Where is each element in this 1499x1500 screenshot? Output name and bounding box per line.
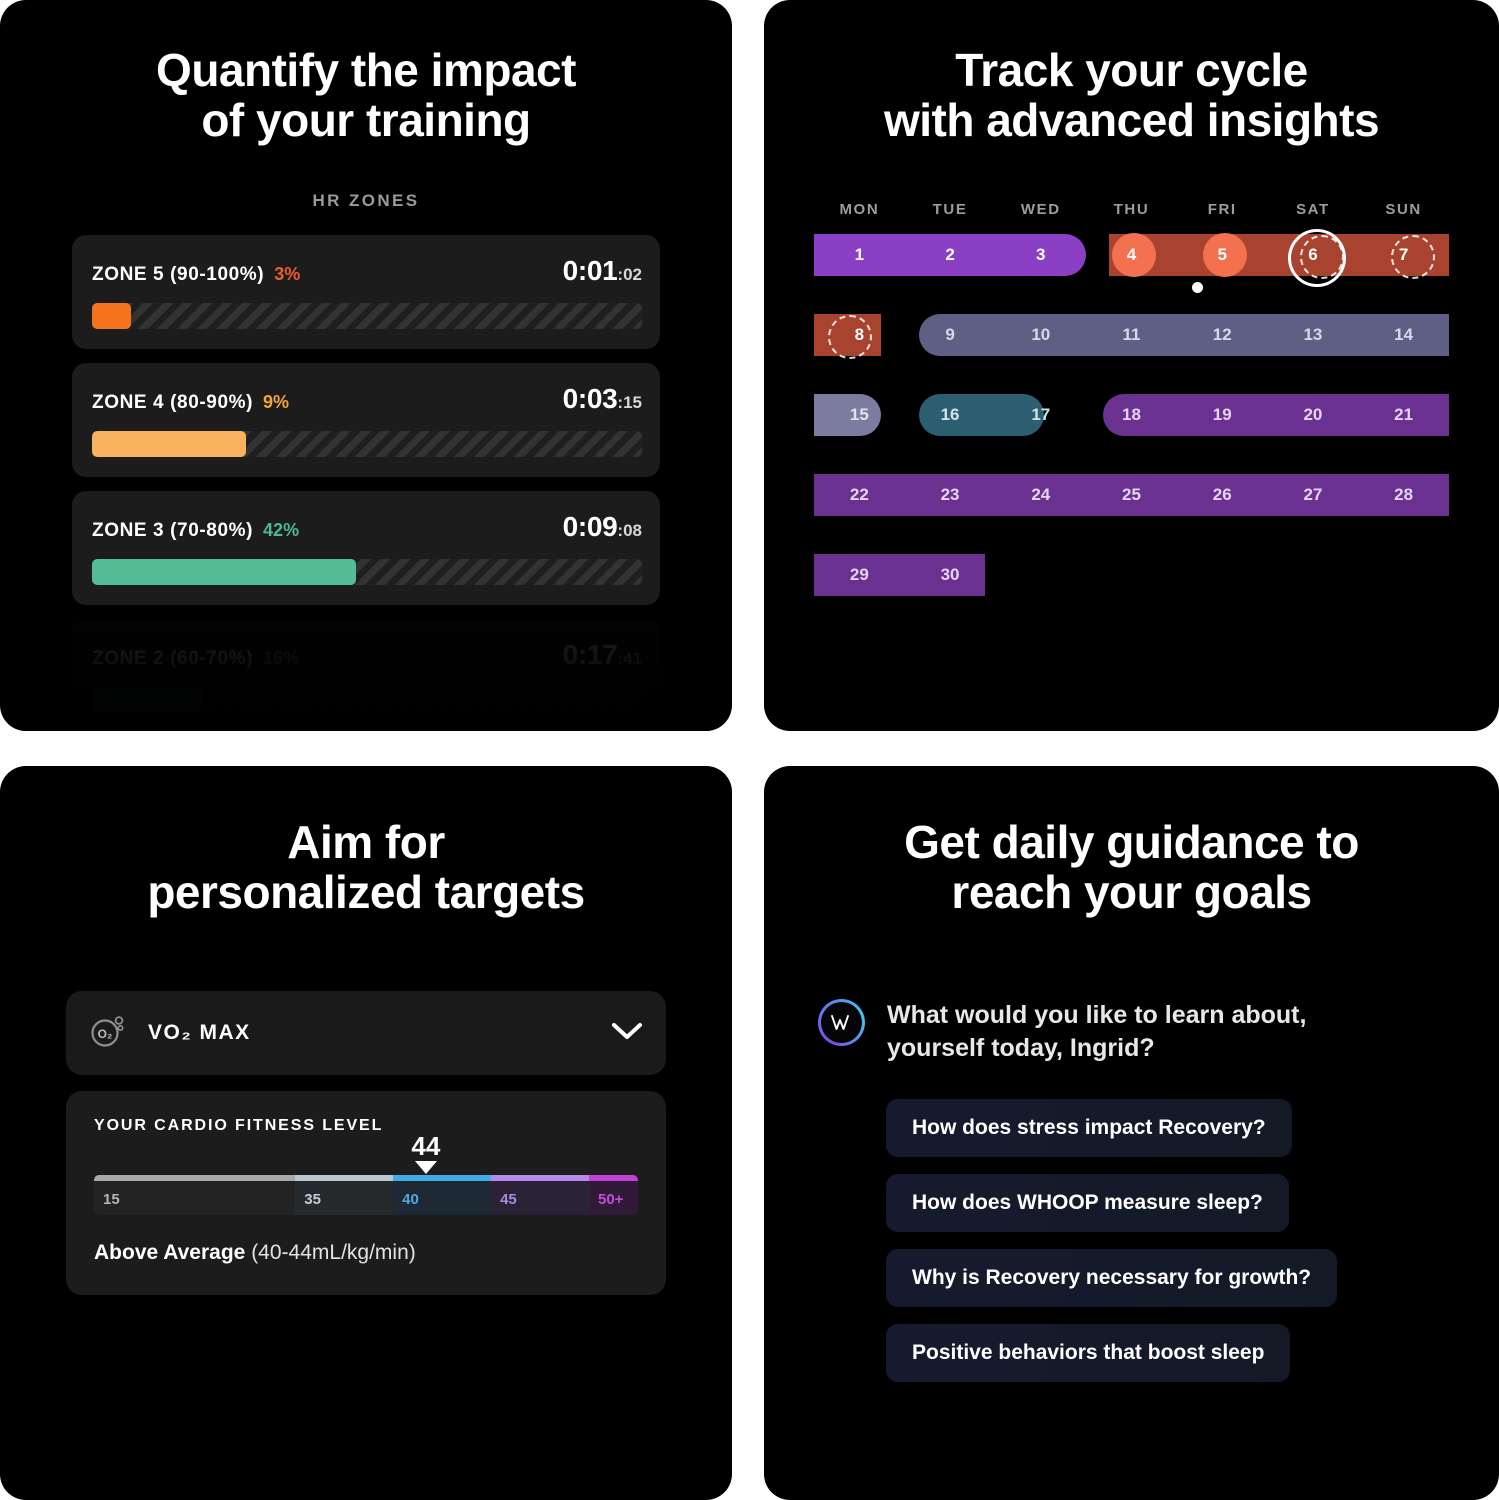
panel-targets: Aim for personalized targets O₂ VO₂ MAX … <box>0 766 732 1500</box>
calendar-day[interactable]: 28 <box>1358 474 1449 516</box>
training-headline-line2: of your training <box>0 96 732 146</box>
zone-duration: 0:09:08 <box>563 511 642 543</box>
calendar-day[interactable]: 27 <box>1268 474 1359 516</box>
calendar-week-1: 1 2 3 4 5 6 7 <box>814 234 1449 276</box>
gauge-scale: 15 35 40 45 <box>94 1175 638 1215</box>
chevron-down-icon[interactable] <box>610 1020 644 1047</box>
gauge-tick: 50+ <box>589 1191 623 1215</box>
calendar-day[interactable]: 21 <box>1358 394 1449 436</box>
calendar-day[interactable]: 19 <box>1177 394 1268 436</box>
zone-duration: 0:01:02 <box>563 255 642 287</box>
coach-prompt: What would you like to learn about, your… <box>887 999 1306 1065</box>
o2-icon: O₂ <box>88 1011 128 1056</box>
fitness-result-label: Above Average <box>94 1241 245 1264</box>
calendar-day[interactable]: 17 <box>995 394 1086 436</box>
cardio-fitness-card: YOUR CARDIO FITNESS LEVEL 44 15 35 4 <box>66 1091 666 1295</box>
panel-coach: Get daily guidance to reach your goals W… <box>764 766 1499 1500</box>
training-headline: Quantify the impact of your training <box>0 46 732 145</box>
svg-text:O₂: O₂ <box>98 1027 113 1041</box>
coach-prompt-line1: What would you like to learn about, <box>887 999 1306 1032</box>
fitness-result: Above Average (40-44mL/kg/min) <box>94 1241 638 1265</box>
hr-zones-label: HR ZONES <box>0 191 732 211</box>
zone-name: ZONE 4 (80-90%) <box>92 392 253 414</box>
gauge-segment: 35 <box>295 1175 393 1215</box>
calendar-week-5: 29 30 <box>814 554 1449 596</box>
coach-headline-line1: Get daily guidance to <box>904 816 1359 868</box>
suggestion-chip[interactable]: Why is Recovery necessary for growth? <box>886 1249 1337 1307</box>
marketing-panel-grid: Quantify the impact of your training HR … <box>0 0 1499 1500</box>
calendar-day[interactable]: 30 <box>905 554 996 596</box>
calendar-day[interactable]: 25 <box>1086 474 1177 516</box>
gauge-segment: 45 <box>491 1175 589 1215</box>
gauge-segment: 40 <box>393 1175 491 1215</box>
calendar-day[interactable]: 14 <box>1358 314 1449 356</box>
coach-headline-line2: reach your goals <box>764 868 1499 918</box>
targets-headline-line2: personalized targets <box>0 868 732 918</box>
suggestion-chip[interactable]: How does WHOOP measure sleep? <box>886 1174 1289 1232</box>
calendar-week-3: 15 16 17 18 19 20 21 <box>814 394 1449 436</box>
calendar-day[interactable]: 9 <box>905 314 996 356</box>
calendar-day[interactable]: 5 <box>1177 234 1268 276</box>
zone-progress-track <box>92 431 642 457</box>
zone-percent: 42% <box>263 520 299 541</box>
zone-name: ZONE 3 (70-80%) <box>92 520 253 542</box>
gauge-segment: 50+ <box>589 1175 638 1215</box>
calendar-day[interactable]: 26 <box>1177 474 1268 516</box>
hr-zones-list: ZONE 5 (90-100%) 3% 0:01:02 ZONE 4 (80-9… <box>8 235 724 731</box>
zone-progress-track <box>92 559 642 585</box>
vo2max-label: VO₂ MAX <box>148 1021 251 1045</box>
gauge-pointer-icon <box>415 1161 437 1174</box>
zone-percent: 16% <box>263 648 299 669</box>
training-headline-line1: Quantify the impact <box>156 44 576 96</box>
predicted-day-marker-7 <box>1391 235 1435 279</box>
whoop-logo-icon <box>818 999 865 1046</box>
weekday-wed: WED <box>995 201 1086 218</box>
coach-headline: Get daily guidance to reach your goals <box>764 818 1499 917</box>
calendar-week-4: 22 23 24 25 26 27 28 <box>814 474 1449 516</box>
weekday-sat: SAT <box>1268 201 1359 218</box>
calendar-day[interactable]: 13 <box>1268 314 1359 356</box>
calendar-day[interactable]: 16 <box>905 394 996 436</box>
event-dot <box>1192 282 1203 293</box>
zone-duration: 0:17:41 <box>563 639 642 671</box>
vo2max-selector[interactable]: O₂ VO₂ MAX <box>66 991 666 1075</box>
calendar-day[interactable]: 12 <box>1177 314 1268 356</box>
zone-progress-fill <box>92 303 131 329</box>
calendar-day[interactable]: 29 <box>814 554 905 596</box>
zone-card-5[interactable]: ZONE 5 (90-100%) 3% 0:01:02 <box>72 235 660 349</box>
cycle-headline: Track your cycle with advanced insights <box>764 46 1499 145</box>
gauge-value: 44 <box>411 1131 440 1162</box>
calendar-day[interactable]: 4 <box>1086 234 1177 276</box>
calendar-day[interactable]: 2 <box>905 234 996 276</box>
weekday-sun: SUN <box>1358 201 1449 218</box>
weekday-header: MON TUE WED THU FRI SAT SUN <box>814 201 1449 218</box>
zone-duration: 0:03:15 <box>563 383 642 415</box>
gauge-tick: 35 <box>295 1191 321 1215</box>
calendar-day[interactable]: 10 <box>995 314 1086 356</box>
fitness-gauge: 44 15 35 40 <box>94 1175 638 1215</box>
targets-headline: Aim for personalized targets <box>0 818 732 917</box>
zone-progress-fill <box>92 559 356 585</box>
gauge-tick: 15 <box>94 1191 120 1215</box>
zone-percent: 3% <box>274 264 300 285</box>
zone-progress-track <box>92 687 642 713</box>
calendar-day[interactable]: 18 <box>1086 394 1177 436</box>
zone-name: ZONE 5 (90-100%) <box>92 264 264 286</box>
weekday-fri: FRI <box>1177 201 1268 218</box>
zone-card-2[interactable]: ZONE 2 (60-70%) 16% 0:17:41 <box>72 619 660 731</box>
targets-headline-line1: Aim for <box>287 816 445 868</box>
suggestion-chip[interactable]: Positive behaviors that boost sleep <box>886 1324 1290 1382</box>
zone-card-4[interactable]: ZONE 4 (80-90%) 9% 0:03:15 <box>72 363 660 477</box>
panel-cycle: Track your cycle with advanced insights … <box>764 0 1499 731</box>
weekday-tue: TUE <box>905 201 996 218</box>
cycle-calendar: MON TUE WED THU FRI SAT SUN 1 <box>814 201 1449 596</box>
gauge-tick: 45 <box>491 1191 517 1215</box>
zone-progress-fill <box>92 687 202 713</box>
fitness-result-range: (40-44mL/kg/min) <box>251 1241 416 1264</box>
calendar-week-2: 8 9 10 11 12 13 14 <box>814 314 1449 356</box>
calendar-day[interactable]: 11 <box>1086 314 1177 356</box>
calendar-day[interactable]: 22 <box>814 474 905 516</box>
panel-training: Quantify the impact of your training HR … <box>0 0 732 731</box>
calendar-day[interactable]: 15 <box>814 394 905 436</box>
weekday-thu: THU <box>1086 201 1177 218</box>
gauge-tick: 40 <box>393 1191 419 1215</box>
cycle-headline-line1: Track your cycle <box>955 44 1308 96</box>
calendar-day[interactable]: 23 <box>905 474 996 516</box>
coach-prompt-line2: yourself today, Ingrid? <box>887 1032 1306 1065</box>
coach-suggestions: How does stress impact Recovery? How doe… <box>818 1099 1445 1382</box>
coach-conversation: What would you like to learn about, your… <box>818 999 1445 1382</box>
weekday-mon: MON <box>814 201 905 218</box>
zone-progress-fill <box>92 431 246 457</box>
zone-percent: 9% <box>263 392 289 413</box>
cardio-fitness-label: YOUR CARDIO FITNESS LEVEL <box>94 1117 638 1135</box>
suggestion-chip[interactable]: How does stress impact Recovery? <box>886 1099 1292 1157</box>
zone-progress-track <box>92 303 642 329</box>
gauge-segment: 15 <box>94 1175 295 1215</box>
cycle-headline-line2: with advanced insights <box>764 96 1499 146</box>
calendar-day[interactable]: 1 <box>814 234 905 276</box>
today-ring <box>1288 229 1346 287</box>
zone-card-3[interactable]: ZONE 3 (70-80%) 42% 0:09:08 <box>72 491 660 605</box>
calendar-day[interactable]: 3 <box>995 234 1086 276</box>
zone-name: ZONE 2 (60-70%) <box>92 648 253 670</box>
calendar-day[interactable]: 20 <box>1268 394 1359 436</box>
calendar-day[interactable]: 24 <box>995 474 1086 516</box>
predicted-day-marker-8 <box>828 315 872 359</box>
